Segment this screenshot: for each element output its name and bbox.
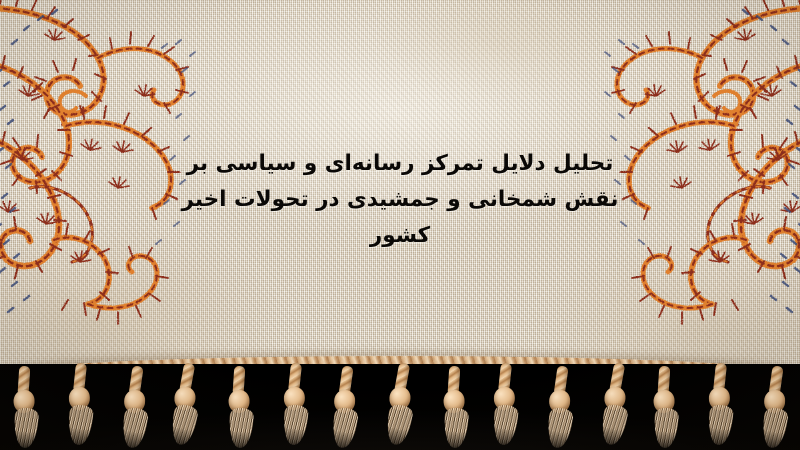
tassel [62, 363, 98, 450]
tassel-skirt [67, 404, 94, 446]
tassel-skirt [707, 404, 734, 446]
tassel [542, 366, 578, 450]
tassel-skirt [491, 404, 518, 446]
tassel [118, 366, 154, 450]
tassel-fringe [0, 360, 800, 450]
tassel [381, 362, 420, 450]
headline-line-3: کشور [150, 218, 650, 254]
headline-line-2: نقش شمخانی و جمشیدی در تحولات اخیر [150, 182, 650, 218]
tassel-skirt [443, 407, 469, 448]
tassel [5, 365, 44, 450]
tassel-skirt [761, 407, 790, 450]
tassel-skirt [384, 403, 414, 446]
tassel [702, 363, 738, 450]
tassel-skirt [121, 407, 150, 450]
tassel-skirt [653, 407, 679, 448]
headline-line-1: تحلیل دلایل تمرکز رسانه‌ای و سیاسی بر [150, 146, 650, 182]
tassel [221, 365, 260, 450]
tassel [327, 366, 363, 450]
tassel [436, 365, 475, 450]
tassel [165, 362, 204, 450]
tassel-skirt [545, 407, 574, 450]
tassel-skirt [330, 407, 359, 450]
tassel [487, 363, 523, 450]
tassel [596, 362, 635, 450]
tassel [278, 363, 314, 450]
tassel-skirt [599, 403, 629, 446]
tassel-skirt [228, 407, 254, 448]
tassel-skirt [168, 403, 198, 446]
headline-text: تحلیل دلایل تمرکز رسانه‌ای و سیاسی بر نق… [0, 146, 800, 254]
tassel [645, 365, 684, 450]
textile-headline-image: تحلیل دلایل تمرکز رسانه‌ای و سیاسی بر نق… [0, 0, 800, 450]
tassel-skirt [282, 404, 309, 446]
tassel-skirt [13, 407, 39, 448]
tassel [758, 366, 794, 450]
